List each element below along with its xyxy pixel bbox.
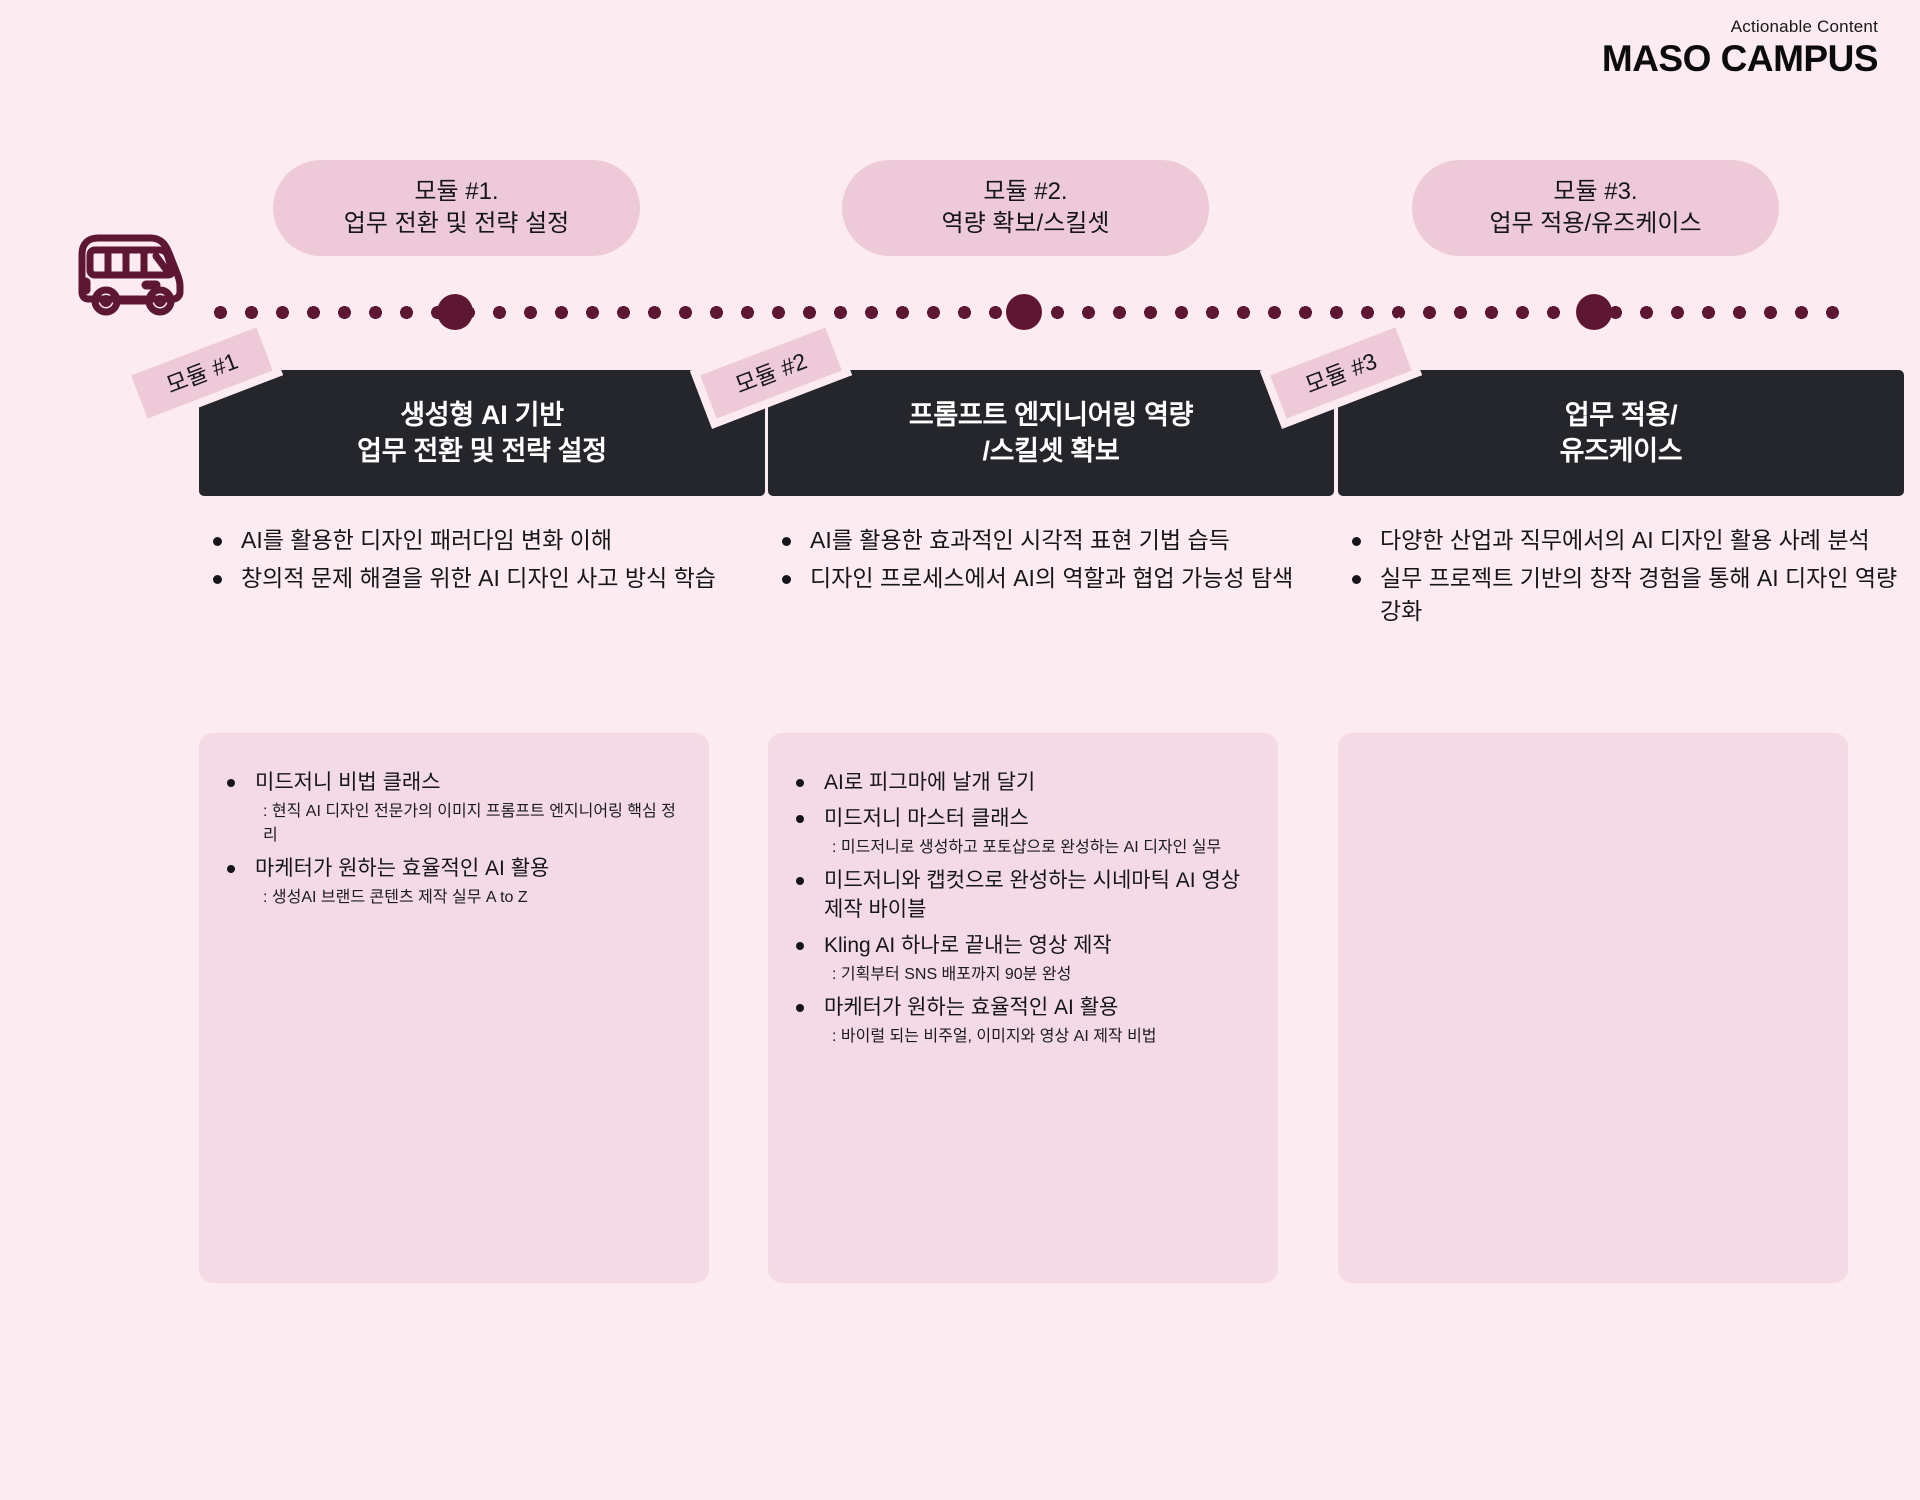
course-list-2: AI로 피그마에 날개 달기미드저니 마스터 클래스: 미드저니로 생성하고 포… — [788, 768, 1252, 1049]
brand-tagline: Actionable Content — [1602, 18, 1878, 35]
module-ribbon-2: 모듈 #2 — [690, 317, 852, 429]
outcome-item: 디자인 프로세스에서 AI의 역할과 협업 가능성 탐색 — [774, 562, 1334, 596]
module-pill-3-number: 모듈 #3. — [1553, 176, 1637, 208]
course-item: Kling AI 하나로 끝내는 영상 제작: 기획부터 SNS 배포까지 90… — [788, 931, 1252, 987]
course-title: 미드저니와 캡컷으로 완성하는 시네마틱 AI 영상 제작 바이블 — [788, 866, 1252, 926]
course-item: AI로 피그마에 날개 달기 — [788, 768, 1252, 798]
module-header-1-line1: 생성형 AI 기반 — [400, 397, 564, 433]
module-pill-2: 모듈 #2. 역량 확보/스킬셋 — [842, 160, 1209, 256]
timeline-node-1 — [437, 294, 473, 330]
brand-name: MASO CAMPUS — [1602, 40, 1878, 77]
outcome-item: AI를 활용한 디자인 패러다임 변화 이해 — [205, 524, 765, 558]
outcome-item: AI를 활용한 효과적인 시각적 표현 기법 습득 — [774, 524, 1334, 558]
module-pill-1-title: 업무 전환 및 전략 설정 — [344, 208, 569, 240]
module-header-3-line2: 유즈케이스 — [1560, 433, 1683, 469]
course-panel-3 — [1338, 733, 1848, 1283]
course-description: : 현직 AI 디자인 전문가의 이미지 프롬프트 엔지니어링 핵심 정리 — [219, 800, 683, 848]
module-header-1: 모듈 #1 생성형 AI 기반 업무 전환 및 전략 설정 — [199, 370, 765, 496]
module-header-3-line1: 업무 적용/ — [1565, 397, 1678, 433]
module-header-1-line2: 업무 전환 및 전략 설정 — [357, 433, 607, 469]
module-pill-3-title: 업무 적용/유즈케이스 — [1489, 208, 1701, 240]
module-header-2: 모듈 #2 프롬프트 엔지니어링 역량 /스킬셋 확보 — [768, 370, 1334, 496]
course-title: Kling AI 하나로 끝내는 영상 제작 — [788, 931, 1252, 961]
module-outcomes-2: AI를 활용한 효과적인 시각적 표현 기법 습득 디자인 프로세스에서 AI의… — [768, 524, 1334, 595]
course-item: 미드저니 비법 클래스: 현직 AI 디자인 전문가의 이미지 프롬프트 엔지니… — [219, 768, 683, 848]
course-description: : 기획부터 SNS 배포까지 90분 완성 — [788, 963, 1252, 987]
timeline-node-2 — [1006, 294, 1042, 330]
module-pill-1-number: 모듈 #1. — [414, 176, 498, 208]
course-title: AI로 피그마에 날개 달기 — [788, 768, 1252, 798]
outcome-item: 창의적 문제 해결을 위한 AI 디자인 사고 방식 학습 — [205, 562, 765, 596]
outcome-item: 다양한 산업과 직무에서의 AI 디자인 활용 사례 분석 — [1344, 524, 1904, 558]
module-header-2-line1: 프롬프트 엔지니어링 역량 — [909, 397, 1193, 433]
module-column-3: 모듈 #3 업무 적용/ 유즈케이스 다양한 산업과 직무에서의 AI 디자인 … — [1338, 370, 1904, 633]
course-item: 마케터가 원하는 효율적인 AI 활용: 바이럴 되는 비주얼, 이미지와 영상… — [788, 993, 1252, 1049]
timeline-node-3 — [1576, 294, 1612, 330]
course-description: : 미드저니로 생성하고 포토샵으로 완성하는 AI 디자인 실무 — [788, 836, 1252, 860]
module-pill-2-number: 모듈 #2. — [983, 176, 1067, 208]
course-panel-2: AI로 피그마에 날개 달기미드저니 마스터 클래스: 미드저니로 생성하고 포… — [768, 733, 1278, 1283]
roadmap-page: Actionable Content MASO CAMPUS 모듈 #1. — [0, 0, 1920, 1500]
brand-logo: Actionable Content MASO CAMPUS — [1602, 18, 1878, 77]
module-pill-3: 모듈 #3. 업무 적용/유즈케이스 — [1412, 160, 1779, 256]
module-column-1: 모듈 #1 생성형 AI 기반 업무 전환 및 전략 설정 AI를 활용한 디자… — [199, 370, 765, 599]
course-title: 마케터가 원하는 효율적인 AI 활용 — [788, 993, 1252, 1023]
module-header-2-line2: /스킬셋 확보 — [982, 433, 1119, 469]
module-ribbon-3: 모듈 #3 — [1260, 317, 1422, 429]
course-panel-1: 미드저니 비법 클래스: 현직 AI 디자인 전문가의 이미지 프롬프트 엔지니… — [199, 733, 709, 1283]
course-item: 마케터가 원하는 효율적인 AI 활용: 생성AI 브랜드 콘텐츠 제작 실무 … — [219, 854, 683, 910]
module-pill-2-title: 역량 확보/스킬셋 — [942, 208, 1110, 240]
module-outcomes-1: AI를 활용한 디자인 패러다임 변화 이해 창의적 문제 해결을 위한 AI … — [199, 524, 765, 595]
module-outcomes-3: 다양한 산업과 직무에서의 AI 디자인 활용 사례 분석 실무 프로젝트 기반… — [1338, 524, 1904, 629]
module-header-3: 모듈 #3 업무 적용/ 유즈케이스 — [1338, 370, 1904, 496]
timeline — [0, 300, 1920, 326]
course-description: : 바이럴 되는 비주얼, 이미지와 영상 AI 제작 비법 — [788, 1025, 1252, 1049]
course-title: 미드저니 비법 클래스 — [219, 768, 683, 798]
outcome-item: 실무 프로젝트 기반의 창작 경험을 통해 AI 디자인 역량 강화 — [1344, 562, 1904, 629]
module-ribbon-1: 모듈 #1 — [121, 317, 283, 429]
course-description: : 생성AI 브랜드 콘텐츠 제작 실무 A to Z — [219, 886, 683, 910]
course-item: 미드저니 마스터 클래스: 미드저니로 생성하고 포토샵으로 완성하는 AI 디… — [788, 804, 1252, 860]
course-list-1: 미드저니 비법 클래스: 현직 AI 디자인 전문가의 이미지 프롬프트 엔지니… — [219, 768, 683, 910]
module-pill-1: 모듈 #1. 업무 전환 및 전략 설정 — [273, 160, 640, 256]
course-item: 미드저니와 캡컷으로 완성하는 시네마틱 AI 영상 제작 바이블 — [788, 866, 1252, 926]
course-title: 마케터가 원하는 효율적인 AI 활용 — [219, 854, 683, 884]
course-title: 미드저니 마스터 클래스 — [788, 804, 1252, 834]
module-column-2: 모듈 #2 프롬프트 엔지니어링 역량 /스킬셋 확보 AI를 활용한 효과적인… — [768, 370, 1334, 599]
